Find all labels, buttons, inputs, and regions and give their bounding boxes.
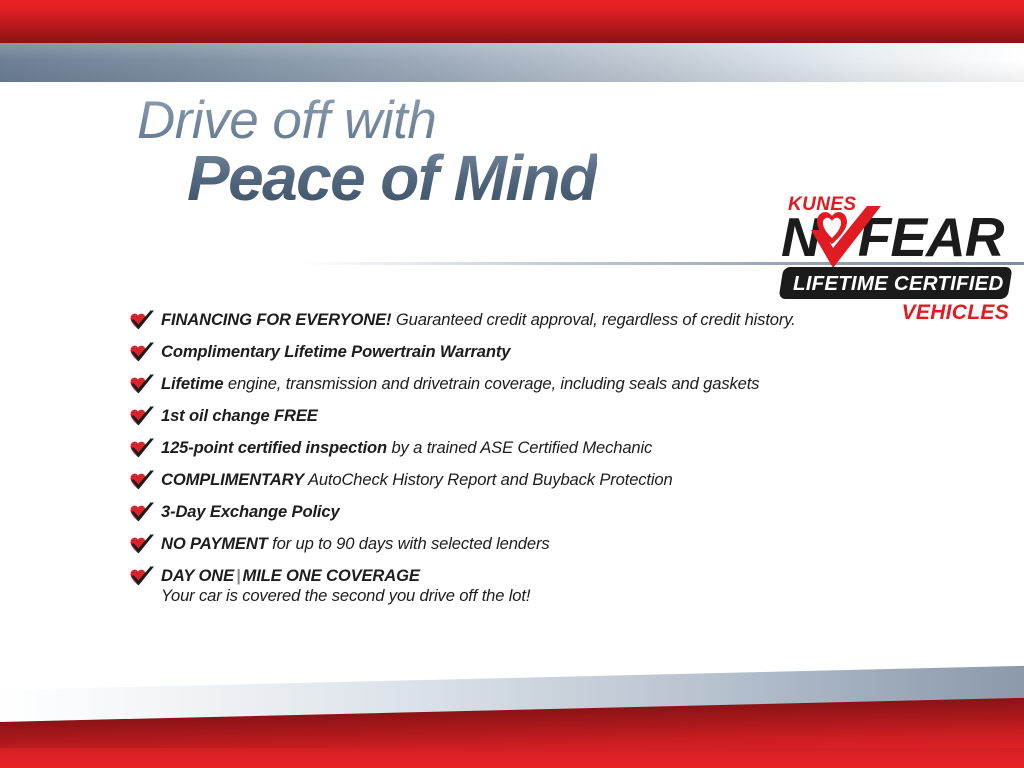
check-heart-icon — [129, 437, 155, 459]
list-item-bold: FINANCING FOR EVERYONE! — [161, 310, 391, 329]
list-item: 1st oil change FREE — [129, 404, 929, 436]
list-item: DAY ONE|MILE ONE COVERAGE Your car is co… — [129, 564, 929, 616]
advertisement-slide: Drive off with Peace of Mind KUNES NFEAR… — [0, 0, 1024, 768]
list-item-normal: Guaranteed credit approval, regardless o… — [391, 310, 795, 329]
check-heart-icon — [129, 501, 155, 523]
list-item-text: 125-point certified inspection by a trai… — [161, 436, 652, 459]
check-heart-icon — [129, 405, 155, 427]
list-item-text: Complimentary Lifetime Powertrain Warran… — [161, 340, 510, 363]
list-item-bold: NO PAYMENT — [161, 534, 268, 553]
list-item-normal: for up to 90 days with selected lenders — [268, 534, 550, 553]
list-item: 125-point certified inspection by a trai… — [129, 436, 929, 468]
logo-lifetime-certified-text: LIFETIME CERTIFIED — [793, 272, 1007, 296]
headline-line-1: Drive off with — [137, 96, 597, 146]
check-heart-icon — [129, 341, 155, 363]
list-item-bold: Lifetime — [161, 374, 223, 393]
check-heart-icon — [129, 309, 155, 331]
list-item: FINANCING FOR EVERYONE! Guaranteed credi… — [129, 308, 929, 340]
list-item-text: 1st oil change FREE — [161, 404, 318, 427]
list-item-text: Lifetime engine, transmission and drivet… — [161, 372, 759, 395]
benefits-list: FINANCING FOR EVERYONE! Guaranteed credi… — [129, 308, 929, 616]
list-item-subtext: Your car is covered the second you drive… — [161, 586, 530, 606]
list-item-bold-2: MILE ONE COVERAGE — [243, 566, 420, 585]
top-grey-band-shading — [0, 43, 1024, 82]
check-heart-icon — [129, 469, 155, 491]
list-item-bold: COMPLIMENTARY — [161, 470, 304, 489]
list-item: Complimentary Lifetime Powertrain Warran… — [129, 340, 929, 372]
kunes-no-fear-logo: KUNES NFEAR LIFETIME CERTIFIED VEHICLES — [775, 194, 1013, 324]
list-item-text: COMPLIMENTARY AutoCheck History Report a… — [161, 468, 673, 491]
list-item-normal: AutoCheck History Report and Buyback Pro… — [304, 470, 673, 489]
top-red-band — [0, 0, 1024, 43]
list-item: Lifetime engine, transmission and drivet… — [129, 372, 929, 404]
check-heart-icon — [129, 373, 155, 395]
list-item: NO PAYMENT for up to 90 days with select… — [129, 532, 929, 564]
list-item-text: DAY ONE|MILE ONE COVERAGE — [161, 564, 420, 587]
page-title: Drive off with Peace of Mind — [137, 96, 597, 208]
list-item-bold: DAY ONE — [161, 566, 234, 585]
list-item-bold: 1st oil change FREE — [161, 406, 318, 425]
list-item-text: NO PAYMENT for up to 90 days with select… — [161, 532, 549, 555]
header-section: Drive off with Peace of Mind KUNES NFEAR… — [0, 82, 1024, 267]
list-item-bold: 3-Day Exchange Policy — [161, 502, 340, 521]
check-heart-icon — [129, 533, 155, 555]
check-heart-logo-icon — [807, 204, 883, 270]
list-item-normal: engine, transmission and drivetrain cove… — [223, 374, 759, 393]
list-item: 3-Day Exchange Policy — [129, 500, 929, 532]
bottom-red-band-fill — [0, 748, 1024, 768]
list-item-separator: | — [234, 566, 243, 585]
headline-line-2: Peace of Mind — [187, 148, 597, 208]
list-item-text: 3-Day Exchange Policy — [161, 500, 340, 523]
check-heart-icon — [129, 565, 155, 587]
list-item-bold: 125-point certified inspection — [161, 438, 387, 457]
list-item-text: FINANCING FOR EVERYONE! Guaranteed credi… — [161, 308, 796, 331]
list-item-bold: Complimentary Lifetime Powertrain Warran… — [161, 342, 510, 361]
list-item-normal: by a trained ASE Certified Mechanic — [387, 438, 652, 457]
list-item: COMPLIMENTARY AutoCheck History Report a… — [129, 468, 929, 500]
